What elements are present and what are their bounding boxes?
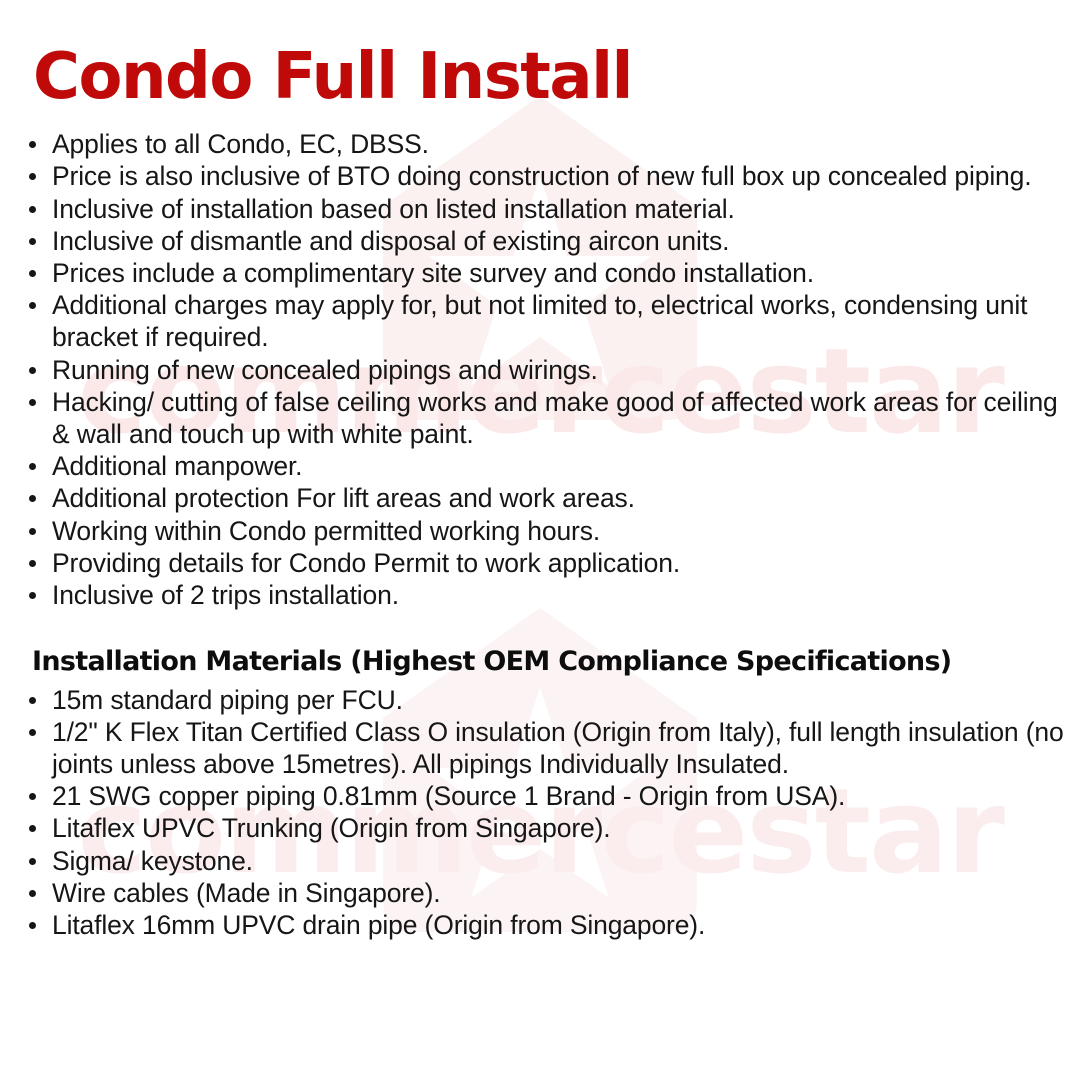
list-item: Litaflex UPVC Trunking (Origin from Sing…: [0, 812, 1080, 844]
list-item: Additional protection For lift areas and…: [0, 482, 1080, 514]
list-item: Providing details for Condo Permit to wo…: [0, 547, 1080, 579]
list-item: Price is also inclusive of BTO doing con…: [0, 160, 1080, 192]
document-content: Condo Full Install Applies to all Condo,…: [0, 0, 1080, 941]
page-title: Condo Full Install: [0, 0, 1080, 111]
overview-bullet-list: Applies to all Condo, EC, DBSS. Price is…: [0, 128, 1080, 611]
list-item: 1/2" K Flex Titan Certified Class O insu…: [0, 716, 1080, 780]
list-item: Additional charges may apply for, but no…: [0, 289, 1080, 353]
materials-bullet-list: 15m standard piping per FCU. 1/2" K Flex…: [0, 684, 1080, 942]
list-item: Litaflex 16mm UPVC drain pipe (Origin fr…: [0, 909, 1080, 941]
list-item: Inclusive of dismantle and disposal of e…: [0, 225, 1080, 257]
list-item: 15m standard piping per FCU.: [0, 684, 1080, 716]
list-item: Inclusive of 2 trips installation.: [0, 579, 1080, 611]
list-item: Sigma/ keystone.: [0, 845, 1080, 877]
list-item: Prices include a complimentary site surv…: [0, 257, 1080, 289]
list-item: Inclusive of installation based on liste…: [0, 193, 1080, 225]
list-item: Running of new concealed pipings and wir…: [0, 354, 1080, 386]
list-item: 21 SWG copper piping 0.81mm (Source 1 Br…: [0, 780, 1080, 812]
list-item: Working within Condo permitted working h…: [0, 515, 1080, 547]
list-item: Additional manpower.: [0, 450, 1080, 482]
list-item: Hacking/ cutting of false ceiling works …: [0, 386, 1080, 450]
list-item: Applies to all Condo, EC, DBSS.: [0, 128, 1080, 160]
list-item: Wire cables (Made in Singapore).: [0, 877, 1080, 909]
materials-section-heading: Installation Materials (Highest OEM Comp…: [0, 611, 1080, 678]
